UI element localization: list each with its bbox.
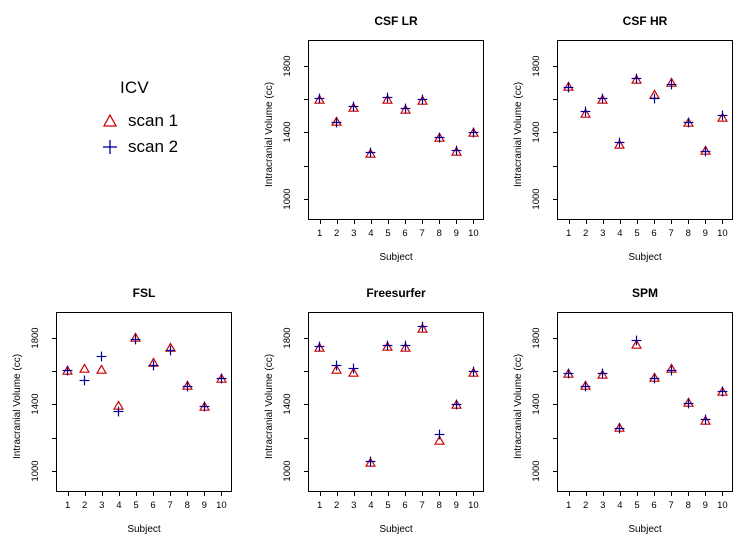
y-tick-mark xyxy=(52,404,56,405)
y-tick-label: 1800 xyxy=(530,324,544,352)
legend-title: ICV xyxy=(120,78,149,98)
y-axis-label: Intracranial Volume (cc) xyxy=(264,82,275,187)
plot-area xyxy=(308,312,484,492)
y-tick-mark xyxy=(553,99,557,100)
y-tick-mark xyxy=(52,438,56,439)
panel-fsl: FSLIntracranial Volume (cc)1000140018001… xyxy=(0,286,249,558)
y-tick-mark xyxy=(553,404,557,405)
y-tick-mark xyxy=(304,438,308,439)
x-tick-mark xyxy=(405,220,406,224)
y-axis-label: Intracranial Volume (cc) xyxy=(264,354,275,459)
x-axis-label: Subject xyxy=(308,252,484,263)
y-tick-label: 1800 xyxy=(281,324,295,352)
x-tick-label: 10 xyxy=(209,500,233,511)
x-tick-mark xyxy=(456,492,457,496)
y-tick-label: 1800 xyxy=(29,324,43,352)
panel-spm: SPMIntracranial Volume (cc)1000140018001… xyxy=(501,286,750,558)
panel-title: SPM xyxy=(511,286,751,300)
figure-canvas: ICV scan 1 scan 2 CSF LRIntracranial Vol… xyxy=(0,0,751,558)
x-tick-mark xyxy=(654,492,655,496)
y-tick-mark xyxy=(553,338,557,339)
y-tick-mark xyxy=(553,199,557,200)
y-tick-mark xyxy=(553,471,557,472)
legend-entry-scan-2: scan 2 xyxy=(78,136,253,162)
x-tick-mark xyxy=(439,492,440,496)
triangle-up-outline-icon xyxy=(100,110,120,132)
x-tick-mark xyxy=(337,492,338,496)
x-tick-label: 10 xyxy=(710,500,734,511)
y-tick-mark xyxy=(553,166,557,167)
x-tick-mark xyxy=(388,492,389,496)
x-tick-mark xyxy=(688,220,689,224)
y-tick-mark xyxy=(304,338,308,339)
y-tick-mark xyxy=(553,66,557,67)
y-tick-mark xyxy=(304,371,308,372)
x-tick-label: 10 xyxy=(710,228,734,239)
y-tick-mark xyxy=(304,166,308,167)
x-tick-mark xyxy=(688,492,689,496)
x-tick-mark xyxy=(388,220,389,224)
x-tick-mark xyxy=(221,492,222,496)
plot-area xyxy=(557,40,733,220)
x-tick-mark xyxy=(705,492,706,496)
y-tick-mark xyxy=(52,371,56,372)
panel-title: CSF HR xyxy=(511,14,751,28)
y-tick-label: 1800 xyxy=(281,52,295,80)
x-tick-mark xyxy=(722,220,723,224)
y-tick-label: 1000 xyxy=(530,185,544,213)
y-tick-label: 1400 xyxy=(530,390,544,418)
x-tick-mark xyxy=(671,492,672,496)
legend-entry-scan-1: scan 1 xyxy=(78,110,253,136)
y-tick-label: 1800 xyxy=(530,52,544,80)
x-tick-mark xyxy=(586,492,587,496)
x-axis-label: Subject xyxy=(308,524,484,535)
y-tick-mark xyxy=(52,471,56,472)
x-tick-mark xyxy=(102,492,103,496)
x-tick-mark xyxy=(354,220,355,224)
x-tick-mark xyxy=(586,220,587,224)
x-tick-mark xyxy=(439,220,440,224)
x-tick-mark xyxy=(371,492,372,496)
x-tick-mark xyxy=(603,492,604,496)
x-tick-mark xyxy=(473,492,474,496)
x-tick-mark xyxy=(722,492,723,496)
x-tick-mark xyxy=(136,492,137,496)
y-tick-label: 1000 xyxy=(530,457,544,485)
x-tick-label: 10 xyxy=(461,228,485,239)
y-tick-mark xyxy=(304,132,308,133)
x-tick-mark xyxy=(85,492,86,496)
y-tick-label: 1000 xyxy=(281,457,295,485)
x-tick-mark xyxy=(603,220,604,224)
plot-area xyxy=(308,40,484,220)
x-tick-mark xyxy=(320,220,321,224)
x-tick-mark xyxy=(620,220,621,224)
y-tick-label: 1400 xyxy=(29,390,43,418)
x-axis-label: Subject xyxy=(557,524,733,535)
panel-title: CSF LR xyxy=(262,14,530,28)
x-tick-mark xyxy=(569,492,570,496)
y-tick-label: 1400 xyxy=(530,118,544,146)
x-tick-mark xyxy=(204,492,205,496)
x-tick-mark xyxy=(422,492,423,496)
x-tick-mark xyxy=(170,492,171,496)
x-tick-mark xyxy=(337,220,338,224)
x-axis-label: Subject xyxy=(56,524,232,535)
panel-title: Freesurfer xyxy=(262,286,530,300)
x-tick-mark xyxy=(68,492,69,496)
y-tick-mark xyxy=(304,199,308,200)
x-tick-mark xyxy=(371,220,372,224)
y-tick-mark xyxy=(304,404,308,405)
x-tick-mark xyxy=(473,220,474,224)
x-tick-label: 10 xyxy=(461,500,485,511)
y-tick-mark xyxy=(304,66,308,67)
legend: ICV scan 1 scan 2 xyxy=(78,78,253,173)
y-tick-mark xyxy=(304,471,308,472)
plus-icon xyxy=(100,136,120,158)
y-axis-label: Intracranial Volume (cc) xyxy=(513,82,524,187)
x-tick-mark xyxy=(320,492,321,496)
y-tick-mark xyxy=(553,438,557,439)
x-tick-mark xyxy=(422,220,423,224)
x-tick-mark xyxy=(456,220,457,224)
y-tick-label: 1000 xyxy=(281,185,295,213)
y-axis-label: Intracranial Volume (cc) xyxy=(513,354,524,459)
x-tick-mark xyxy=(405,492,406,496)
plot-area xyxy=(557,312,733,492)
panel-csf-lr: CSF LRIntracranial Volume (cc)1000140018… xyxy=(252,14,501,286)
legend-label-scan-1: scan 1 xyxy=(128,110,178,132)
x-tick-mark xyxy=(705,220,706,224)
panel-title: FSL xyxy=(10,286,278,300)
y-tick-label: 1400 xyxy=(281,118,295,146)
y-tick-label: 1400 xyxy=(281,390,295,418)
x-tick-mark xyxy=(637,220,638,224)
y-tick-mark xyxy=(553,132,557,133)
plot-area xyxy=(56,312,232,492)
x-tick-mark xyxy=(671,220,672,224)
x-axis-label: Subject xyxy=(557,252,733,263)
y-tick-mark xyxy=(304,99,308,100)
y-axis-label: Intracranial Volume (cc) xyxy=(12,354,23,459)
x-tick-mark xyxy=(620,492,621,496)
x-tick-mark xyxy=(354,492,355,496)
x-tick-mark xyxy=(187,492,188,496)
x-tick-mark xyxy=(153,492,154,496)
x-tick-mark xyxy=(569,220,570,224)
y-tick-mark xyxy=(52,338,56,339)
panel-csf-hr: CSF HRIntracranial Volume (cc)1000140018… xyxy=(501,14,750,286)
y-tick-label: 1000 xyxy=(29,457,43,485)
legend-label-scan-2: scan 2 xyxy=(128,136,178,158)
x-tick-mark xyxy=(637,492,638,496)
x-tick-mark xyxy=(119,492,120,496)
x-tick-mark xyxy=(654,220,655,224)
y-tick-mark xyxy=(553,371,557,372)
panel-freesurfer: FreesurferIntracranial Volume (cc)100014… xyxy=(252,286,501,558)
